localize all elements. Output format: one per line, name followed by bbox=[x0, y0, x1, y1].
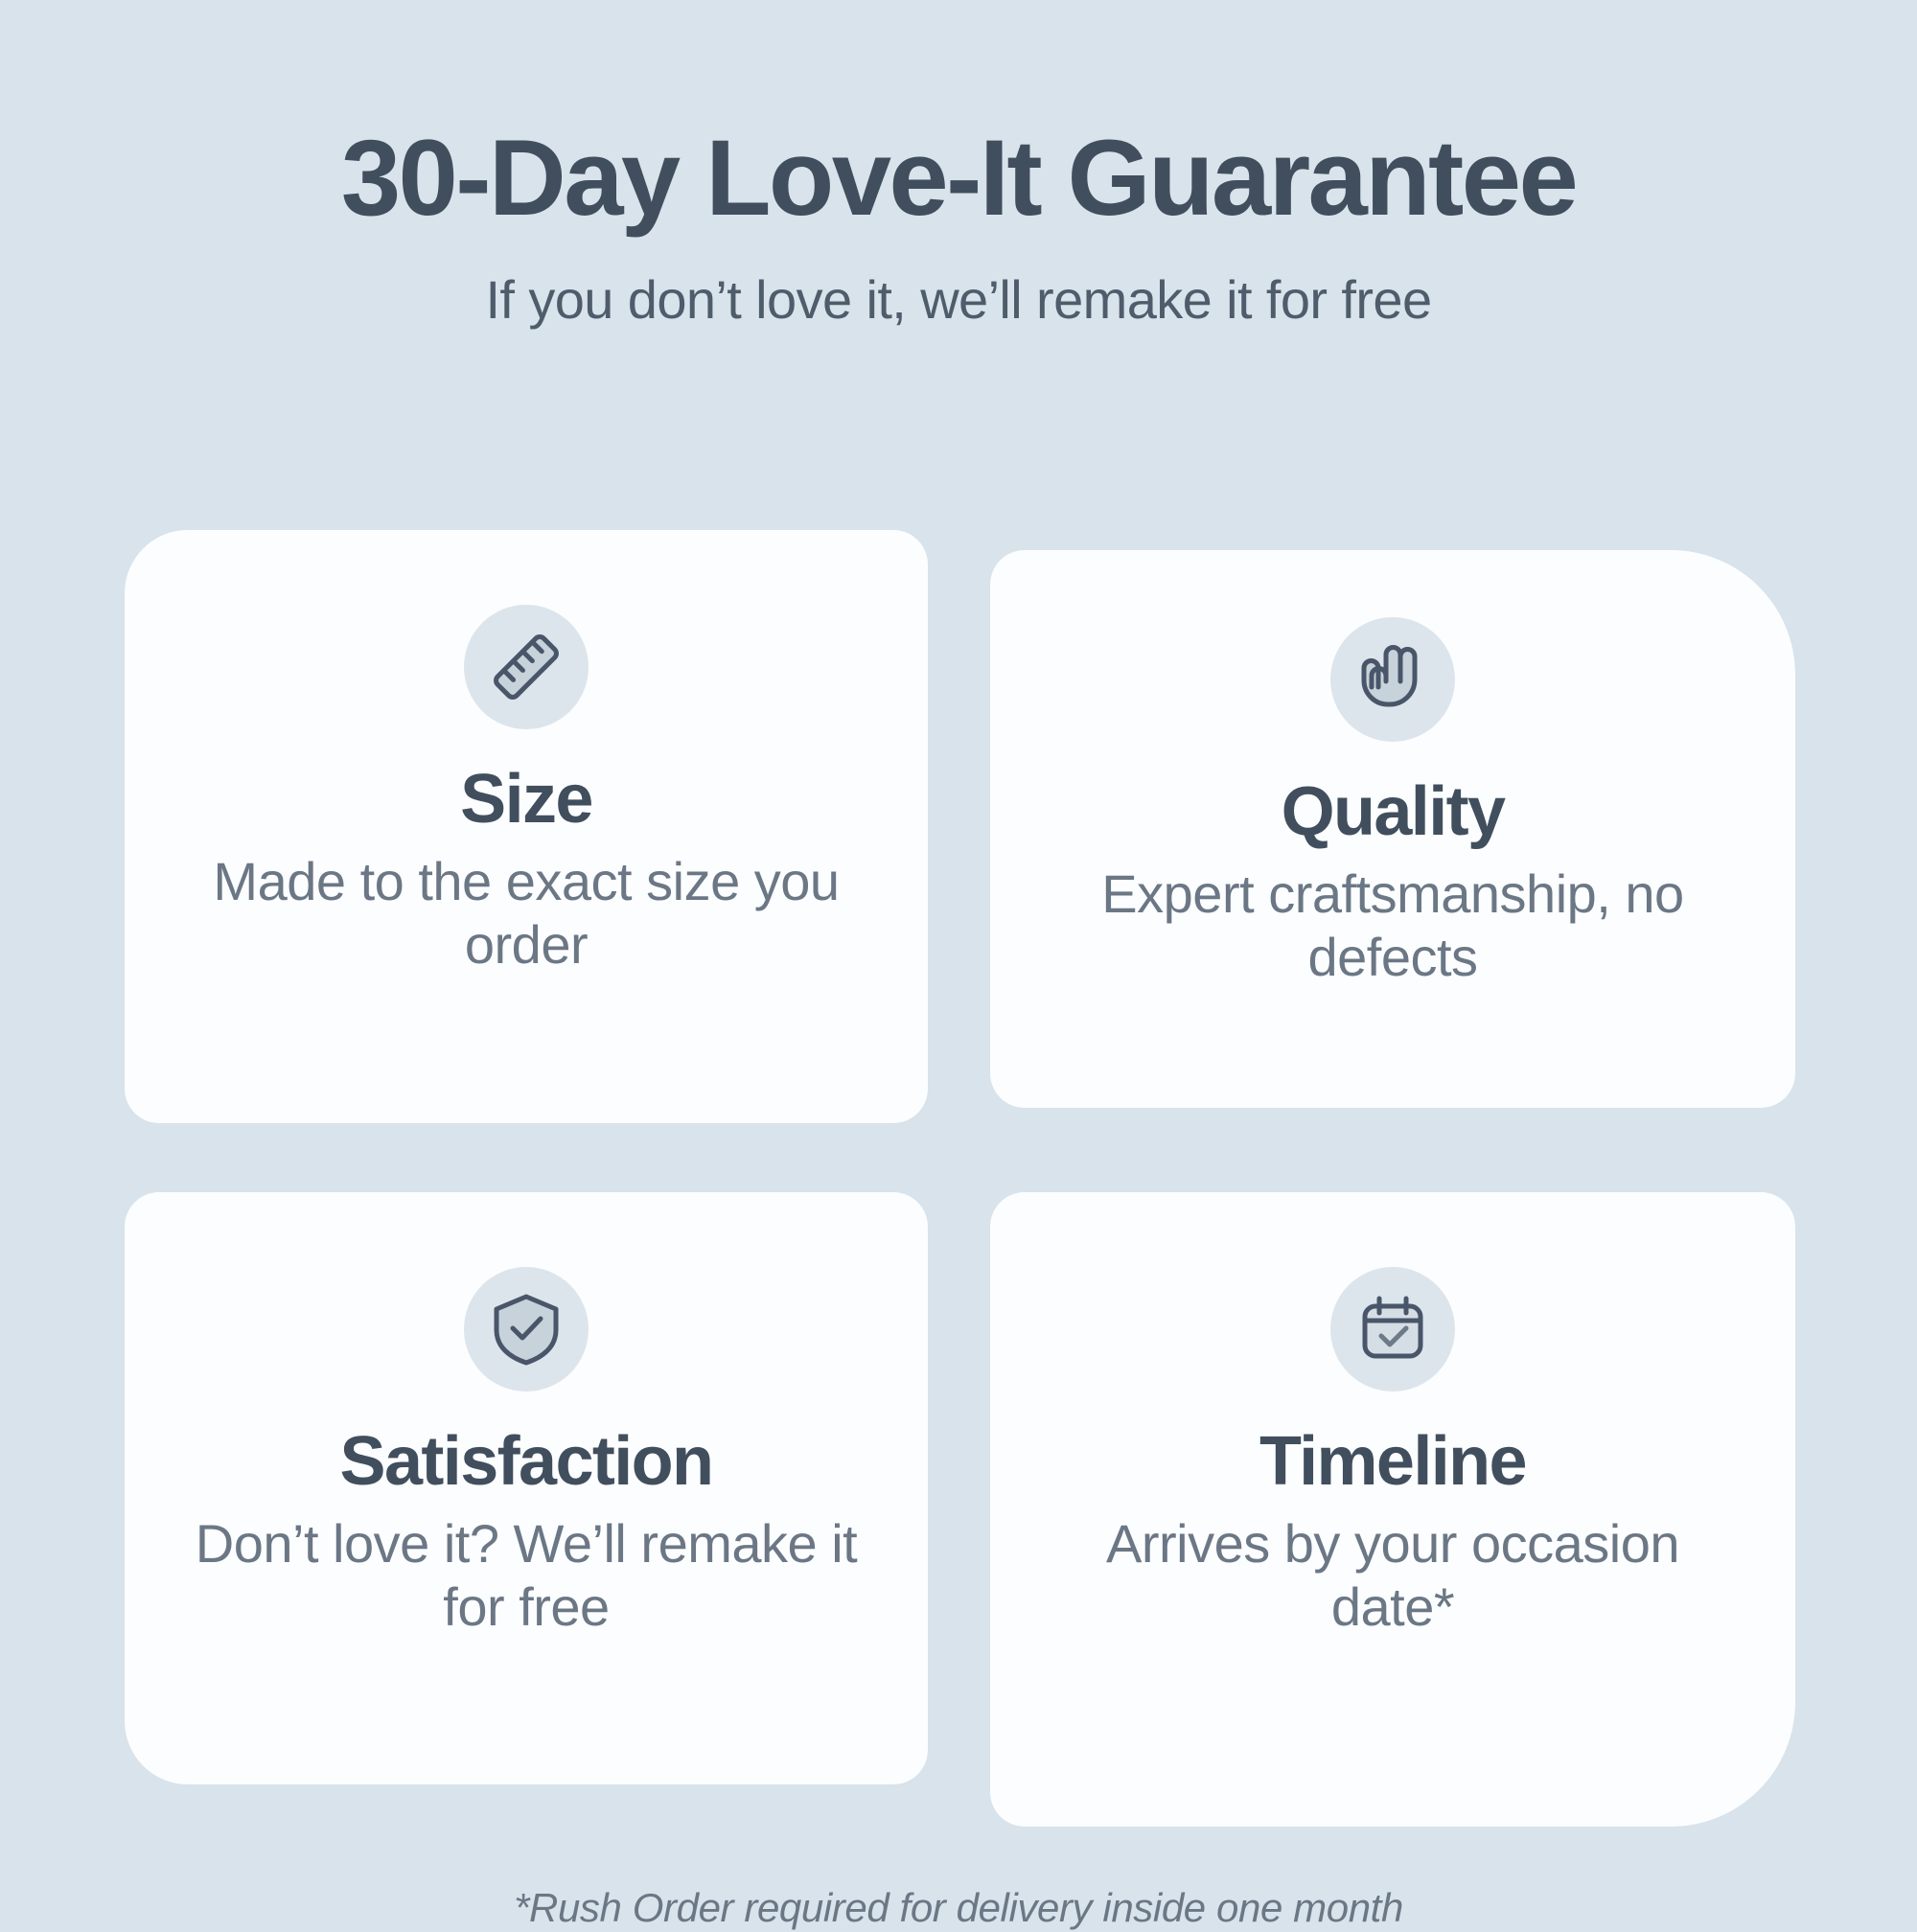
card-title: Quality bbox=[1282, 742, 1505, 849]
card-title: Size bbox=[460, 729, 592, 837]
card-satisfaction: Satisfaction Don’t love it? We’ll remake… bbox=[125, 1192, 928, 1784]
card-title: Timeline bbox=[1259, 1391, 1526, 1499]
card-description: Expert craftsmanship, no defects bbox=[1057, 849, 1728, 989]
page-title: 30-Day Love-It Guarantee bbox=[0, 0, 1917, 234]
card-description: Arrives by your occasion date* bbox=[1057, 1499, 1728, 1639]
guarantee-infographic: 30-Day Love-It Guarantee If you don’t lo… bbox=[0, 0, 1917, 1917]
card-description: Made to the exact size you order bbox=[191, 837, 862, 977]
hand-icon bbox=[1330, 617, 1455, 742]
card-description: Don’t love it? We’ll remake it for free bbox=[191, 1499, 862, 1639]
calendar-check-icon bbox=[1330, 1267, 1455, 1391]
card-quality: Quality Expert craftsmanship, no defects bbox=[990, 550, 1795, 1108]
card-timeline: Timeline Arrives by your occasion date* bbox=[990, 1192, 1795, 1827]
card-size: Size Made to the exact size you order bbox=[125, 530, 928, 1123]
page-subtitle: If you don’t love it, we’ll remake it fo… bbox=[0, 234, 1917, 330]
ruler-icon bbox=[464, 605, 589, 729]
footnote: *Rush Order required for delivery inside… bbox=[0, 1884, 1917, 1932]
shield-check-icon bbox=[464, 1267, 589, 1391]
card-title: Satisfaction bbox=[340, 1391, 713, 1499]
header: 30-Day Love-It Guarantee If you don’t lo… bbox=[0, 0, 1917, 330]
